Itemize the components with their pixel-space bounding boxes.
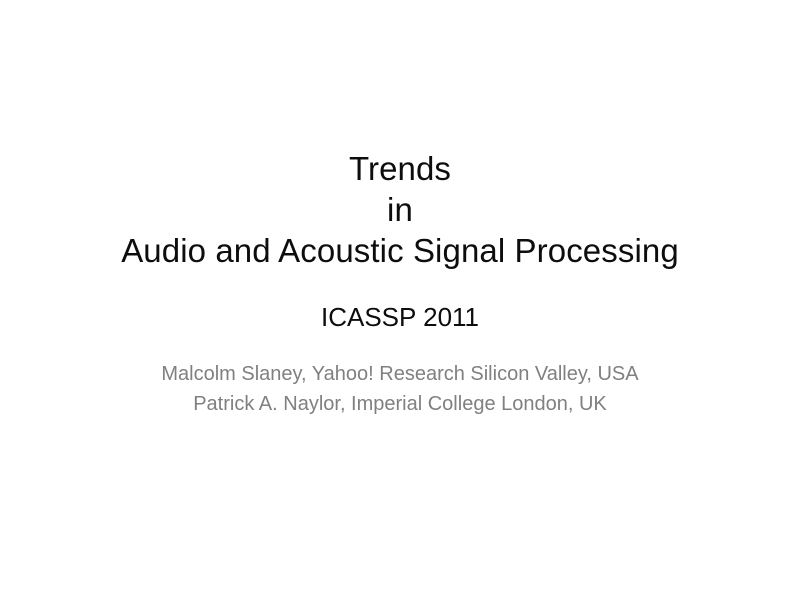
slide-authors: Malcolm Slaney, Yahoo! Research Silicon … [0,359,800,419]
title-slide: Trends in Audio and Acoustic Signal Proc… [0,0,800,599]
slide-subtitle: ICASSP 2011 [0,301,800,333]
title-line-2: in [0,189,800,230]
author-line-1: Malcolm Slaney, Yahoo! Research Silicon … [0,359,800,389]
subtitle-conference: ICASSP 2011 [0,301,800,333]
slide-title: Trends in Audio and Acoustic Signal Proc… [0,148,800,271]
author-line-2: Patrick A. Naylor, Imperial College Lond… [0,389,800,419]
slide-content-stack: Trends in Audio and Acoustic Signal Proc… [0,148,800,419]
title-line-3: Audio and Acoustic Signal Processing [0,230,800,271]
title-line-1: Trends [0,148,800,189]
